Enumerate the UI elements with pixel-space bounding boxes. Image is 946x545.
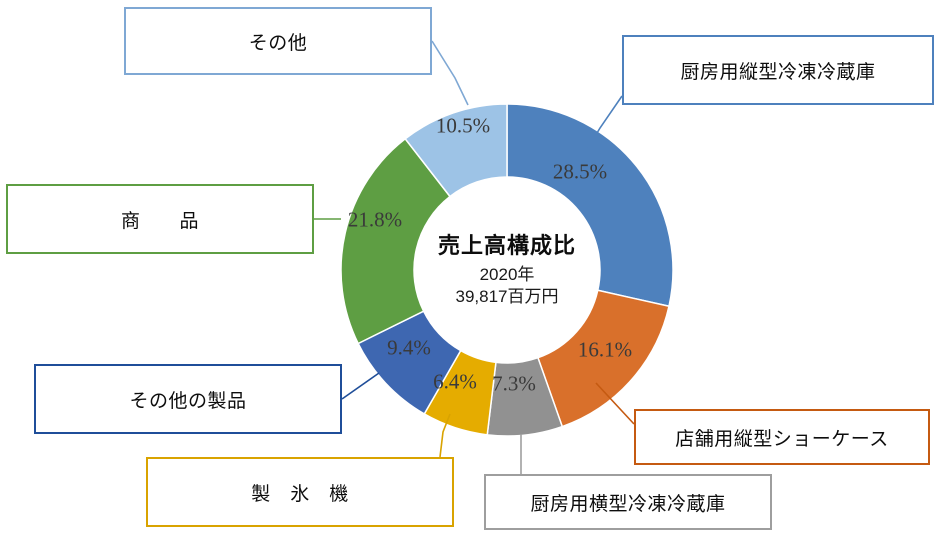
slice-percent-label: 16.1% (578, 338, 632, 363)
center-title: 売上高構成比 (412, 231, 602, 260)
donut-center-label: 売上高構成比 2020年 39,817百万円 (412, 231, 602, 309)
callout-chubo-tate[interactable]: 厨房用縦型冷凍冷蔵庫 (622, 35, 934, 105)
callout-label: 店舗用縦型ショーケース (675, 424, 889, 451)
slice-percent-label: 9.4% (387, 336, 431, 361)
callout-label: 厨房用縦型冷凍冷蔵庫 (680, 57, 875, 84)
slice-percent-label: 28.5% (553, 160, 607, 185)
slice-percent-label: 10.5% (436, 114, 490, 139)
callout-label: その他 (249, 28, 308, 55)
center-total: 39,817百万円 (412, 287, 602, 309)
callout-sonota[interactable]: その他 (124, 7, 432, 75)
callout-label: 厨房用横型冷凍冷蔵庫 (530, 489, 725, 516)
center-year: 2020年 (412, 264, 602, 286)
chart-canvas: 28.5%16.1%7.3%6.4%9.4%21.8%10.5% 売上高構成比 … (0, 0, 946, 545)
callout-chubo-yoko[interactable]: 厨房用横型冷凍冷蔵庫 (484, 474, 772, 530)
slice-percent-label: 21.8% (348, 208, 402, 233)
callout-shohin[interactable]: 商 品 (6, 184, 314, 254)
callout-label: 商 品 (121, 206, 199, 233)
callout-tenpo-tate[interactable]: 店舗用縦型ショーケース (634, 409, 930, 465)
slice-percent-label: 6.4% (433, 370, 477, 395)
callout-label: 製 氷 機 (251, 479, 349, 506)
callout-sonota-seihin[interactable]: その他の製品 (34, 364, 342, 434)
callout-label: その他の製品 (129, 386, 246, 413)
leader-sonota (432, 41, 468, 105)
callout-seihyoki[interactable]: 製 氷 機 (146, 457, 454, 527)
leader-sonota-seihin (342, 373, 379, 399)
slice-percent-label: 7.3% (492, 372, 536, 397)
